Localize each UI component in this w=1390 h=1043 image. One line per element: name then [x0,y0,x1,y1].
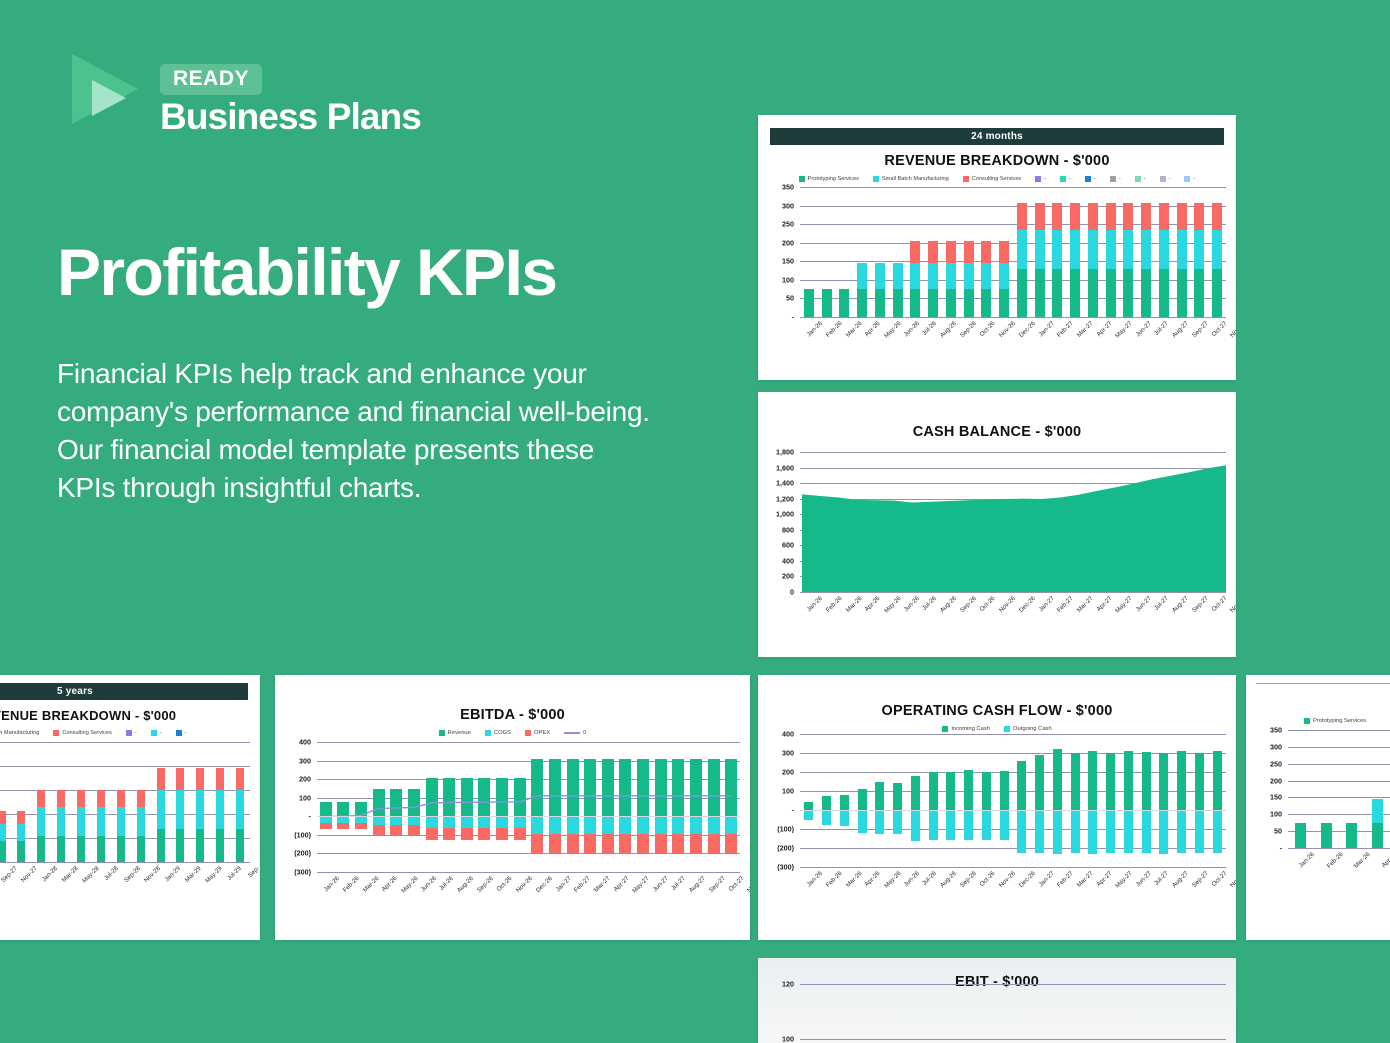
bar-group[interactable] [995,734,1013,867]
chart-title-revenue-breakdown: REVENUE BREAKDOWN - $'000 [758,153,1236,169]
bar-segment [1052,230,1062,269]
chart-title-ebitda: EBITDA - $'000 [275,707,750,723]
bar-segment [216,768,224,790]
legend-item[interactable]: - [151,730,162,736]
bar-group[interactable] [853,734,871,867]
bar-segment [840,795,849,810]
bar-group[interactable] [838,984,851,1043]
bar-segment [117,836,125,862]
legend-label: - [1119,176,1121,182]
legend-label: - [1169,176,1171,182]
y-axis-tick: (200) [764,844,794,853]
bar-segment [946,772,955,810]
bar-segment [946,810,955,840]
legend-item[interactable]: - [1184,176,1195,182]
bar-group[interactable] [71,742,91,862]
bar-group[interactable] [1084,734,1102,867]
bar-group[interactable] [888,984,901,1043]
bar-segment [1035,230,1045,269]
bar-group[interactable] [1191,187,1209,317]
bar-group[interactable] [913,984,926,1043]
bar-segment [1106,810,1115,853]
bar-group[interactable] [871,187,889,317]
bar-segment [1088,230,1098,269]
legend-item[interactable]: - [1135,176,1146,182]
y-axis-tick: - [1252,844,1282,853]
bar-segment [77,790,85,807]
bar-group[interactable] [1163,984,1176,1043]
legend-label: Prototyping Services [808,176,859,182]
legend-preview: Prototyping Services [1246,718,1390,724]
bar-segment [1053,810,1062,854]
bar-segment [1017,230,1027,269]
bar-group[interactable] [800,187,818,317]
legend-item[interactable]: Consulting Services [963,176,1021,182]
legend-item[interactable]: COGS [485,730,511,736]
legend-swatch [525,730,531,736]
legend-label: - [185,730,187,736]
bar-segment [1159,269,1169,317]
legend-item[interactable]: - [1060,176,1071,182]
legend-swatch [942,726,948,732]
legend-operating-cash-flow: Incoming CashOutgoing Cash [758,726,1236,732]
legend-item[interactable]: - [1160,176,1171,182]
chart-title-cash-balance: CASH BALANCE - $'000 [758,424,1236,440]
bar-segment [1035,810,1044,853]
zero-reference-line [317,742,740,872]
bar-segment [928,289,938,317]
bar-segment [77,807,85,836]
zero-axis [800,810,1226,811]
bar-group[interactable] [900,984,913,1043]
bar-group[interactable] [171,742,191,862]
bar-segment [1159,230,1169,269]
bar-group[interactable] [1088,984,1101,1043]
bar-group[interactable] [995,187,1013,317]
y-axis-tick: 1,400 [764,479,794,488]
y-axis-tick: 100 [764,275,794,284]
bar-group[interactable] [111,742,131,862]
bar-group[interactable] [1176,984,1189,1043]
bar-segment [1212,269,1222,317]
bar-segment [137,790,145,807]
bar-segment [1177,810,1186,853]
bar-segment [196,790,204,829]
y-axis-tick: 200 [281,775,311,784]
legend-swatch [53,730,59,736]
bar-group[interactable] [1173,187,1191,317]
ready-badge: READY [160,64,262,95]
bar-segment [946,289,956,317]
y-axis-tick: 150 [764,257,794,266]
bar-segment [157,790,165,829]
bar-segment [57,836,65,862]
bar-group[interactable] [960,734,978,867]
bar-group[interactable] [836,734,854,867]
bar-segment [822,810,831,825]
legend-label: - [1144,176,1146,182]
y-axis-tick: 300 [764,749,794,758]
bar-group[interactable] [1208,734,1226,867]
y-axis-tick: (100) [281,830,311,839]
bar-segment [1177,230,1187,269]
bar-segment [157,829,165,862]
bar-segment [964,770,973,810]
bar-segment [875,289,885,317]
legend-item[interactable]: Outgoing Cash [1004,726,1052,732]
bar-group[interactable] [1101,984,1114,1043]
bar-group[interactable] [889,734,907,867]
legend-swatch [1035,176,1041,182]
legend-item[interactable]: - [1085,176,1096,182]
bar-segment [893,263,903,289]
bar-group[interactable] [230,742,250,862]
bar-group[interactable] [850,984,863,1043]
bar-segment [1346,823,1357,848]
y-axis-tick: 400 [764,730,794,739]
bar-segment [1123,269,1133,317]
y-axis-tick: 200 [764,572,794,581]
legend-item[interactable]: Revenue [439,730,471,736]
bar-segment [911,776,920,810]
bar-segment [1071,753,1080,810]
x-axis-labels: Jan-26Feb-26Mar-26Apr-26May-26Jun-26Jul-… [800,867,1236,907]
legend-item[interactable]: Consulting Services [53,730,111,736]
bar-group[interactable] [1031,187,1049,317]
legend-swatch [1304,718,1310,724]
y-axis-tick: 200 [764,238,794,247]
bar-segment [97,836,105,862]
bar-segment [0,811,6,824]
bar-segment [822,289,832,317]
bar-group[interactable] [1191,734,1209,867]
brand-name: Business Plans [160,98,421,137]
legend-label: - [1069,176,1071,182]
bar-group[interactable] [1365,730,1390,848]
card-cash-balance[interactable]: CASH BALANCE - $'000 1,8001,6001,4001,20… [758,392,1236,657]
bar-segment [946,263,956,289]
bar-group[interactable] [1314,730,1340,848]
legend-swatch [1184,176,1190,182]
legend-swatch [176,730,182,736]
zero-axis [317,816,740,817]
bar-group[interactable] [151,742,171,862]
bar-segment [929,772,938,810]
bar-segment [857,263,867,289]
bar-segment [999,289,1009,317]
bar-group[interactable] [31,742,51,862]
bar-segment [37,807,45,836]
bar-group[interactable] [813,984,826,1043]
bar-segment [1106,753,1115,810]
period-band-24-months: 24 months [770,128,1224,145]
bar-group[interactable] [1137,734,1155,867]
bar-group[interactable] [800,984,813,1043]
legend-label: Revenue [448,730,471,736]
y-axis-tick: 350 [764,183,794,192]
bar-group[interactable] [190,742,210,862]
bar-group[interactable] [0,742,12,862]
y-axis-tick: 1,200 [764,494,794,503]
y-axis-tick: (200) [281,849,311,858]
bar-group[interactable] [800,734,818,867]
bar-segment [0,824,6,842]
bar-group[interactable] [1201,984,1214,1043]
bar-group[interactable] [1188,984,1201,1043]
bar-group[interactable] [1102,187,1120,317]
y-axis-tick: 400 [764,556,794,565]
legend-item[interactable]: OPEX [525,730,550,736]
bar-segment [1088,203,1098,230]
bar-group[interactable] [1155,187,1173,317]
bar-group[interactable] [51,742,71,862]
bar-group[interactable] [1001,984,1014,1043]
legend-swatch [151,730,157,736]
bar-group[interactable] [1063,984,1076,1043]
y-axis-tick: 0 [764,588,794,597]
bar-segment [804,802,813,810]
legend-item[interactable]: - [126,730,137,736]
card-ebit[interactable]: EBIT - $'000 12010080 [758,958,1236,1043]
bar-segment [1070,230,1080,269]
bar-segment [875,810,884,834]
bar-group[interactable] [853,187,871,317]
y-axis: 35030025020015010050- [1256,730,1286,848]
bar-segment [1088,810,1097,854]
bar-group[interactable] [1120,187,1138,317]
legend-item[interactable]: Small Batch Manufacturing [0,730,39,736]
bar-segment [0,841,6,862]
bar-group[interactable] [818,734,836,867]
bar-group[interactable] [836,187,854,317]
bar-segment [910,241,920,263]
bar-segment [981,289,991,317]
bar-segment [1141,203,1151,230]
bar-group[interactable] [1151,984,1164,1043]
bar-segment [1106,230,1116,269]
bar-segment [17,841,25,862]
legend-swatch [1085,176,1091,182]
bar-group[interactable] [1137,187,1155,317]
brand-logo[interactable]: READY Business Plans [72,54,421,137]
bar-segment [1088,751,1097,810]
bar-group[interactable] [863,984,876,1043]
y-axis-tick: - [281,812,311,821]
card-operating-cash-flow[interactable]: OPERATING CASH FLOW - $'000 Incoming Cas… [758,675,1236,940]
bar-group[interactable] [978,187,996,317]
bar-segment [893,289,903,317]
bar-group[interactable] [1066,734,1084,867]
bar-segment [37,836,45,862]
bar-group[interactable] [871,734,889,867]
bar-group[interactable] [1026,984,1039,1043]
bar-segment [1035,269,1045,317]
bar-group[interactable] [988,984,1001,1043]
bar-segment [928,263,938,289]
legend-revenue-breakdown: Prototyping ServicesSmall Batch Manufact… [758,176,1236,182]
bar-series [800,734,1226,867]
bar-group[interactable] [1049,734,1067,867]
bar-group[interactable] [1155,734,1173,867]
bar-group[interactable] [1339,730,1365,848]
y-axis-tick: 200 [1252,776,1282,785]
bar-group[interactable] [1051,984,1064,1043]
bar-segment [1141,269,1151,317]
bar-group[interactable] [131,742,151,862]
bar-segment [1194,230,1204,269]
bar-group[interactable] [1214,984,1227,1043]
y-axis-tick: - [764,806,794,815]
card-revenue-breakdown-preview[interactable]: Prototyping Services 3503002502001501005… [1246,675,1390,940]
bar-segment [216,790,224,829]
card-revenue-breakdown-24m[interactable]: 24 months REVENUE BREAKDOWN - $'000 Prot… [758,115,1236,380]
legend-label: Consulting Services [972,176,1021,182]
bar-segment [999,241,1009,263]
y-axis-tick: 250 [764,220,794,229]
y-axis: 35030025020015010050- [768,187,798,317]
bar-segment [1321,823,1332,848]
card-revenue-breakdown-5y[interactable]: 5 years REVENUE BREAKDOWN - $'000 Small … [0,675,260,940]
bar-segment [804,810,813,820]
bar-group[interactable] [210,742,230,862]
legend-label: Outgoing Cash [1013,726,1052,732]
bar-group[interactable] [1120,734,1138,867]
y-axis: 1,8001,6001,4001,2001,0008006004002000 [768,452,798,592]
bar-segment [857,289,867,317]
bar-segment [17,811,25,824]
bar-group[interactable] [91,742,111,862]
legend-item[interactable]: - [1110,176,1121,182]
bar-group[interactable] [925,984,938,1043]
y-axis-tick: 300 [764,201,794,210]
legend-swatch [564,732,580,734]
bar-segment [1194,203,1204,230]
y-axis-tick: 100 [281,793,311,802]
bar-segment [893,783,902,810]
bar-group[interactable] [950,984,963,1043]
bar-group[interactable] [1138,984,1151,1043]
card-ebitda[interactable]: EBITDA - $'000 RevenueCOGSOPEX0 40030020… [275,675,750,940]
bar-group[interactable] [1038,984,1051,1043]
bar-segment [822,796,831,810]
legend-ebitda: RevenueCOGSOPEX0 [275,730,750,736]
bar-group[interactable] [924,187,942,317]
bar-segment [1088,269,1098,317]
bar-segment [1123,230,1133,269]
bar-group[interactable] [1113,984,1126,1043]
legend-label: - [1094,176,1096,182]
bar-group[interactable] [960,187,978,317]
bar-group[interactable] [1031,734,1049,867]
bar-segment [57,807,65,836]
bar-group[interactable] [963,984,976,1043]
legend-swatch [439,730,445,736]
bar-segment [137,807,145,836]
bar-group[interactable] [975,984,988,1043]
legend-item[interactable]: - [176,730,187,736]
bar-group[interactable] [942,187,960,317]
x-axis-labels: Jan-26Feb-26Mar-26Apr-26May-26Jun-26Jul-… [800,317,1236,357]
bar-group[interactable] [1126,984,1139,1043]
bar-segment [1070,269,1080,317]
bar-group[interactable] [1076,984,1089,1043]
bar-group[interactable] [825,984,838,1043]
bar-segment [1213,751,1222,810]
bar-segment [982,772,991,810]
bar-group[interactable] [1013,187,1031,317]
area-series [802,452,1226,592]
bar-segment [910,263,920,289]
bar-group[interactable] [818,187,836,317]
bar-segment [1212,230,1222,269]
bar-group[interactable] [978,734,996,867]
bar-group[interactable] [1173,734,1191,867]
bar-group[interactable] [924,734,942,867]
legend-item[interactable]: Prototyping Services [1304,718,1366,724]
bar-segment [946,241,956,263]
y-axis-tick: 150 [1252,793,1282,802]
legend-item[interactable]: - [1035,176,1046,182]
legend-swatch [799,176,805,182]
y-axis-tick: 50 [1252,827,1282,836]
bar-group[interactable] [907,734,925,867]
bar-group[interactable] [1066,187,1084,317]
y-axis-tick: 250 [1252,759,1282,768]
bar-segment [840,810,849,826]
bar-group[interactable] [1102,734,1120,867]
bar-segment [1159,753,1168,810]
legend-swatch [963,176,969,182]
legend-item[interactable]: Prototyping Services [799,176,859,182]
bar-segment [1372,799,1383,823]
legend-item[interactable]: Small Batch Manufacturing [873,176,949,182]
y-axis-tick: (300) [281,868,311,877]
legend-swatch [1060,176,1066,182]
legend-item[interactable]: 0 [564,730,586,736]
legend-item[interactable]: Incoming Cash [942,726,990,732]
bar-group[interactable] [1049,187,1067,317]
bar-segment [236,829,244,862]
bar-group[interactable] [942,734,960,867]
y-axis-tick: 100 [764,1035,794,1043]
bar-group[interactable] [875,984,888,1043]
bar-group[interactable] [1288,730,1314,848]
bar-group[interactable] [907,187,925,317]
bar-segment [196,829,204,862]
bar-group[interactable] [938,984,951,1043]
bar-group[interactable] [1013,734,1031,867]
bar-segment [176,829,184,862]
y-axis-tick: 100 [764,787,794,796]
chart-title-operating-cash-flow: OPERATING CASH FLOW - $'000 [758,703,1236,719]
bar-group[interactable] [12,742,32,862]
bar-segment [57,790,65,807]
bar-segment [1052,203,1062,230]
bar-group[interactable] [1084,187,1102,317]
y-axis: 12010080 [768,984,798,1043]
bar-segment [1000,771,1009,810]
bar-series [1288,730,1390,848]
x-axis-labels: Mar-27May-27Jul-27Sep-27Nov-27Jan-28Mar-… [0,862,260,902]
bar-group[interactable] [1208,187,1226,317]
bar-group[interactable] [1013,984,1026,1043]
bar-segment [1195,753,1204,810]
x-axis-labels: Jan-26Feb-26Mar-26Apr-26May-26Jun-26Jul-… [800,592,1236,632]
bar-group[interactable] [889,187,907,317]
legend-label: Prototyping Services [1313,718,1366,724]
bar-series [800,187,1226,317]
bar-segment [1295,823,1306,848]
